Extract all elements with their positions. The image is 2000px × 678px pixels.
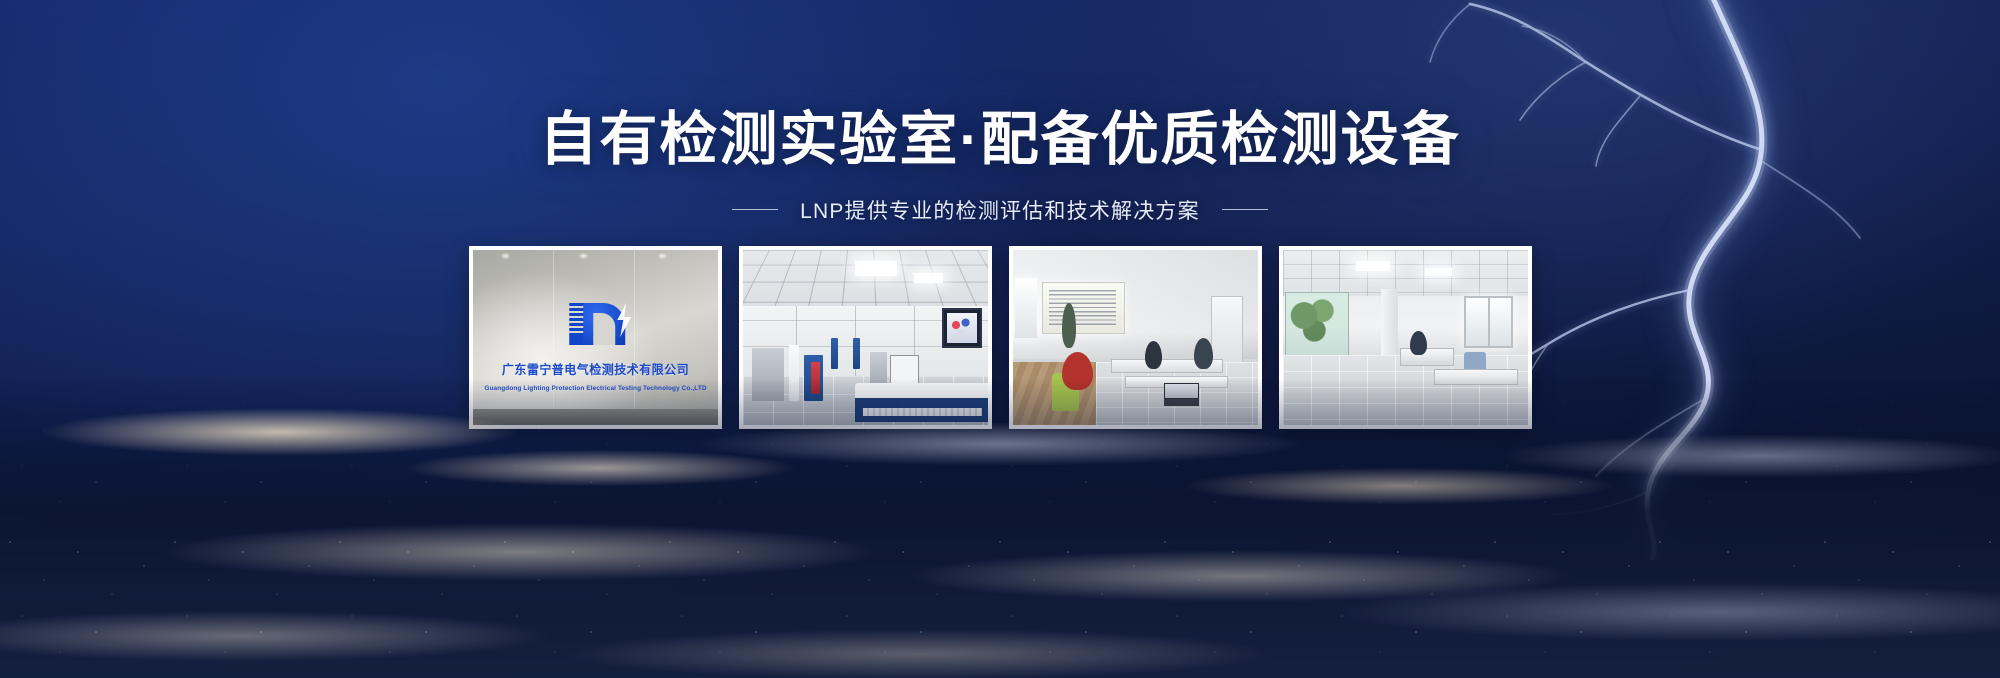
monitor-screen [947, 313, 977, 343]
signage-title-cn: 广东雷宁普电气检测技术有限公司 [485, 359, 705, 378]
ceiling-panel-light [914, 273, 943, 284]
office-desk [1400, 348, 1454, 366]
ceiling-panel-light [1356, 261, 1390, 272]
left-rule-divider [732, 209, 778, 210]
ceiling-light-dot [659, 254, 666, 258]
hv-column [831, 338, 838, 370]
projection-screen [1042, 282, 1125, 335]
window [1015, 278, 1037, 338]
hero-copy: 自有检测实验室·配备优质检测设备 LNP提供专业的检测评估和技术解决方案 [0, 108, 2000, 225]
logo-letter-n [583, 303, 625, 345]
page-title: 自有检测实验室·配备优质检测设备 [0, 108, 2000, 173]
seated-worker [1410, 331, 1427, 356]
city-haze [0, 378, 2000, 678]
window [1464, 296, 1513, 349]
right-rule-divider [1222, 209, 1268, 210]
slide-text-lines [1049, 290, 1116, 326]
ceiling-light-dot [502, 254, 509, 258]
subtitle-row: LNP提供专业的检测评估和技术解决方案 [0, 195, 2000, 225]
ceiling-panel-light [855, 261, 897, 277]
ceiling-light-dot [580, 254, 587, 258]
ceiling-grid [743, 250, 988, 310]
wall-monitor [942, 308, 982, 348]
page-subtitle: LNP提供专业的检测评估和技术解决方案 [800, 195, 1200, 225]
plant-icon [1287, 296, 1343, 345]
hv-column [853, 338, 860, 370]
lnp-logo-icon [569, 303, 625, 345]
ceiling-panel-light [1425, 268, 1452, 277]
logo-letter-l [569, 303, 581, 345]
ceiling-grid [1283, 250, 1528, 296]
hero-banner: 自有检测实验室·配备优质检测设备 LNP提供专业的检测评估和技术解决方案 [0, 0, 2000, 678]
seated-person-dark [1145, 341, 1162, 369]
